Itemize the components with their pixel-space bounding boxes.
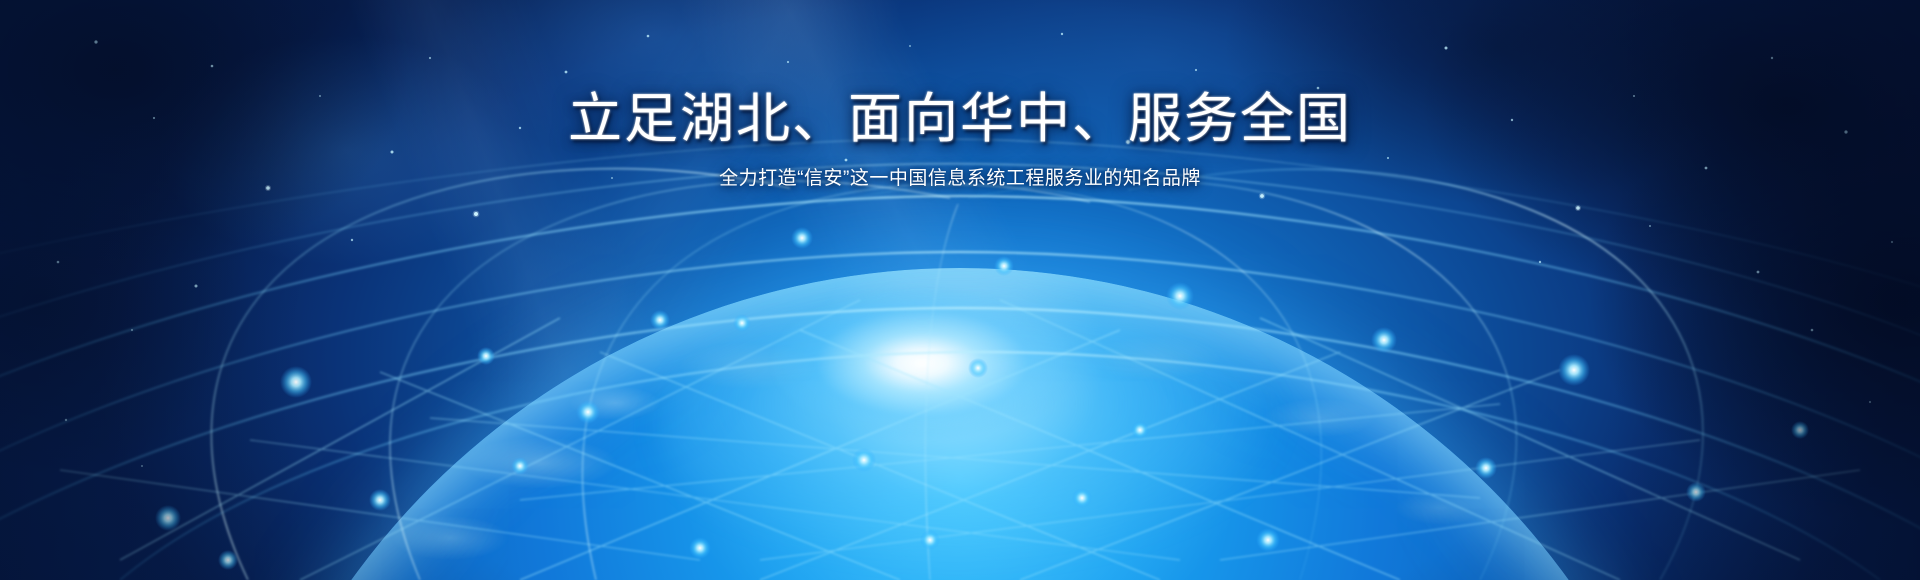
banner-copy: 立足湖北、面向华中、服务全国 全力打造“信安”这一中国信息系统工程服务业的知名品… xyxy=(0,88,1920,192)
hero-banner: 立足湖北、面向华中、服务全国 全力打造“信安”这一中国信息系统工程服务业的知名品… xyxy=(0,0,1920,580)
banner-subtitle: 全力打造“信安”这一中国信息系统工程服务业的知名品牌 xyxy=(0,166,1920,192)
starfield xyxy=(0,0,1920,580)
banner-title: 立足湖北、面向华中、服务全国 xyxy=(0,88,1920,150)
